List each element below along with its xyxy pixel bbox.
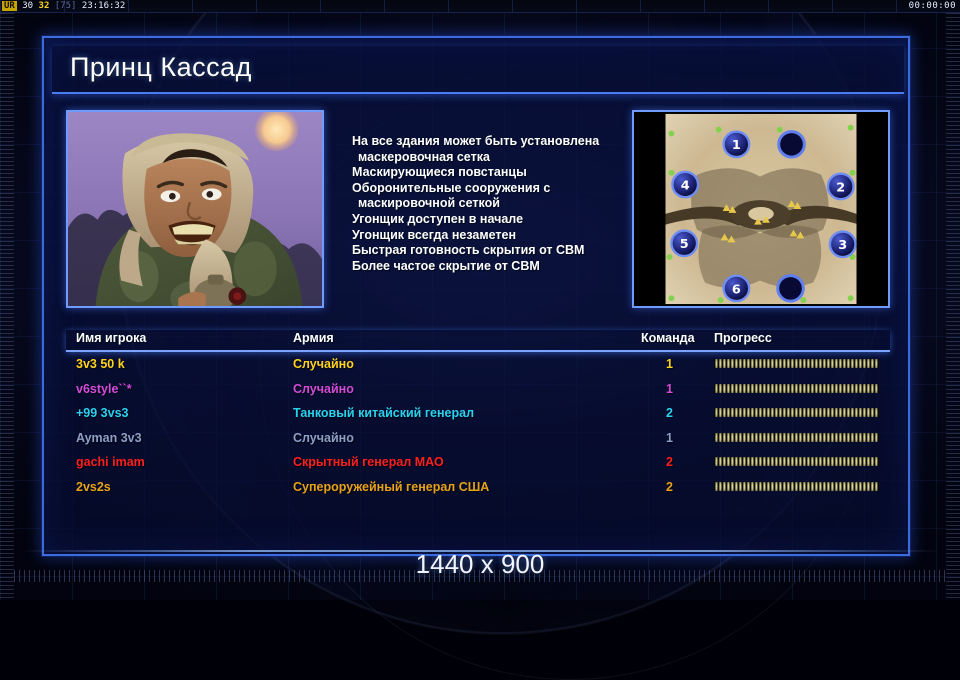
player-team[interactable]: 1 — [666, 431, 673, 445]
map-start-filled — [779, 132, 805, 157]
main-window: Принц Кассад — [42, 36, 910, 556]
upper-content: На все здания может быть установлена мас… — [66, 110, 890, 310]
player-team[interactable]: 2 — [666, 406, 673, 420]
window-title-bar: Принц Кассад — [52, 46, 904, 94]
map-start-5: 5 — [680, 237, 689, 252]
ruler-left — [0, 13, 14, 600]
status-clock-right: 00:00:00 — [909, 0, 956, 13]
resolution-label: 1440 x 900 — [0, 549, 960, 580]
map-start-3: 3 — [838, 238, 847, 253]
player-progress-bar — [714, 384, 879, 393]
column-header-progress: Прогресс — [714, 331, 772, 345]
player-progress-bar — [714, 359, 879, 368]
commander-portrait — [66, 110, 324, 308]
table-row[interactable]: 2vs2s Супероружейный генерал США 2 — [66, 475, 890, 500]
status-tag: UR — [2, 1, 17, 11]
player-progress-bar — [714, 433, 879, 442]
status-value-a: 30 — [22, 1, 33, 11]
table-row[interactable]: gachi imam Скрытный генерал МАО 2 — [66, 450, 890, 475]
top-status-bar: UR 30 32 [75] 23:16:32 00:00:00 — [0, 0, 960, 13]
player-army[interactable]: Случайно — [293, 382, 354, 396]
table-row[interactable]: 3v3 50 k Случайно 1 — [66, 352, 890, 377]
table-row[interactable]: +99 3vs3 Танковый китайский генерал 2 — [66, 401, 890, 426]
portrait-image — [68, 112, 322, 306]
player-team[interactable]: 1 — [666, 357, 673, 371]
page-title: Принц Кассад — [70, 52, 252, 83]
description-line: маскеровочная сетка — [352, 150, 632, 166]
column-header-name: Имя игрока — [76, 331, 146, 345]
player-progress-bar — [714, 457, 879, 466]
faction-description-list: На все здания может быть установлена мас… — [352, 134, 632, 274]
description-line: Оборонительные сооружения с — [352, 181, 632, 197]
column-header-army: Армия — [293, 331, 334, 345]
player-name: Ayman 3v3 — [76, 431, 142, 445]
player-table-header: Имя игрока Армия Команда Прогресс — [66, 330, 890, 352]
player-army[interactable]: Танковый китайский генерал — [293, 406, 474, 420]
description-line: Угонщик всегда незаметен — [352, 228, 632, 244]
player-name: +99 3vs3 — [76, 406, 128, 420]
map-preview[interactable]: 1 2 3 4 5 6 — [632, 110, 890, 308]
description-line: маскировочной сеткой — [352, 196, 632, 212]
player-name: 3v3 50 k — [76, 357, 125, 371]
description-line: Более частое скрытие от СВМ — [352, 259, 632, 275]
ruler-right — [946, 13, 960, 600]
player-name: 2vs2s — [76, 480, 111, 494]
map-start-6: 6 — [732, 282, 741, 297]
status-clock-left: 23:16:32 — [82, 1, 125, 11]
player-table: Имя игрока Армия Команда Прогресс 3v3 50… — [66, 330, 890, 514]
description-line: Маскирующиеся повстанцы — [352, 165, 632, 181]
player-team[interactable]: 2 — [666, 455, 673, 469]
player-name: gachi imam — [76, 455, 145, 469]
status-bar-cells — [0, 0, 960, 12]
table-row[interactable]: v6style``* Случайно 1 — [66, 377, 890, 402]
description-line: На все здания может быть установлена — [352, 134, 632, 150]
player-team[interactable]: 2 — [666, 480, 673, 494]
map-start-2: 2 — [836, 180, 845, 195]
player-army[interactable]: Скрытный генерал МАО — [293, 455, 444, 469]
description-line: Быстрая готовность скрытия от СВМ — [352, 243, 632, 259]
player-army[interactable]: Случайно — [293, 357, 354, 371]
player-progress-bar — [714, 408, 879, 417]
status-value-b: 32 — [39, 1, 50, 11]
player-progress-bar — [714, 482, 879, 491]
player-team[interactable]: 1 — [666, 382, 673, 396]
player-army[interactable]: Супероружейный генерал США — [293, 480, 489, 494]
column-header-team: Команда — [641, 331, 695, 345]
map-start-filled — [778, 276, 804, 301]
player-name: v6style``* — [76, 382, 132, 396]
status-value-c: [75] — [55, 1, 77, 11]
description-line: Угонщик доступен в начале — [352, 212, 632, 228]
table-row[interactable]: Ayman 3v3 Случайно 1 — [66, 426, 890, 451]
status-bar-left: UR 30 32 [75] 23:16:32 — [2, 0, 125, 13]
map-preview-image: 1 2 3 4 5 6 — [634, 112, 888, 306]
player-army[interactable]: Случайно — [293, 431, 354, 445]
map-start-4: 4 — [681, 178, 690, 193]
map-start-1: 1 — [732, 138, 741, 153]
